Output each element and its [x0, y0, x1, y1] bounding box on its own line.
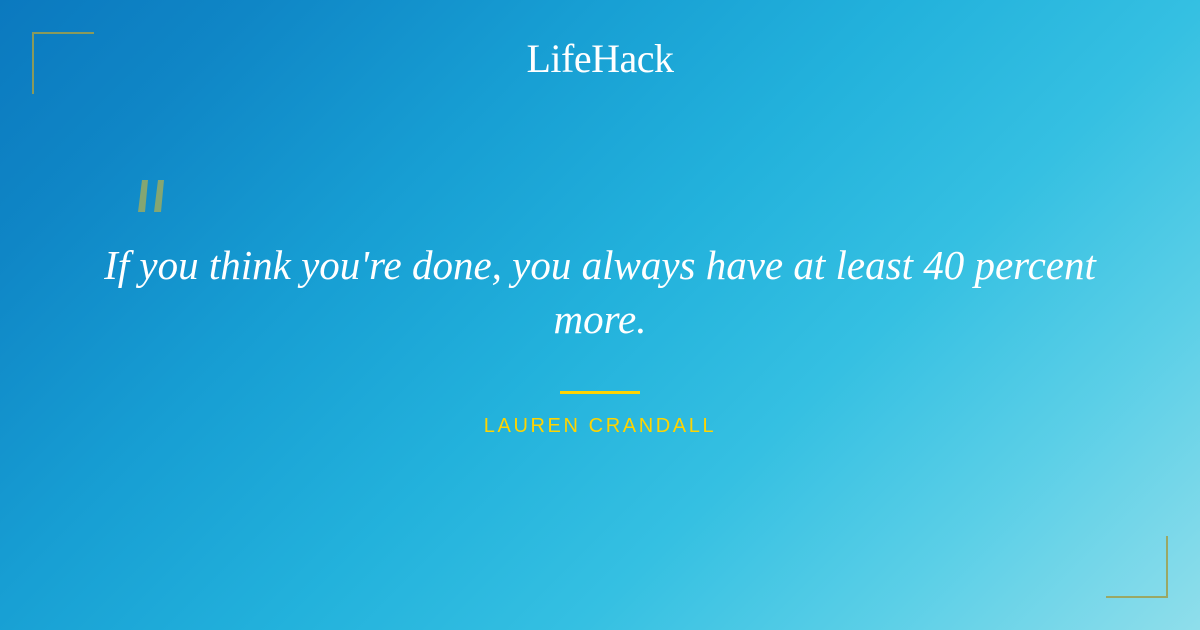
double-quote-icon	[128, 150, 188, 220]
quote-card: LifeHack If you think you're done, you a…	[0, 0, 1200, 630]
quote-text: If you think you're done, you always hav…	[90, 238, 1110, 346]
quote-block: If you think you're done, you always hav…	[90, 238, 1110, 346]
lifehack-logo: LifeHack	[0, 36, 1200, 82]
horizontal-rule-divider	[560, 391, 640, 394]
divider-wrap	[0, 381, 1200, 399]
quote-author: LAUREN CRANDALL	[0, 413, 1200, 439]
corner-bracket-icon-bottom-right	[1106, 536, 1168, 598]
